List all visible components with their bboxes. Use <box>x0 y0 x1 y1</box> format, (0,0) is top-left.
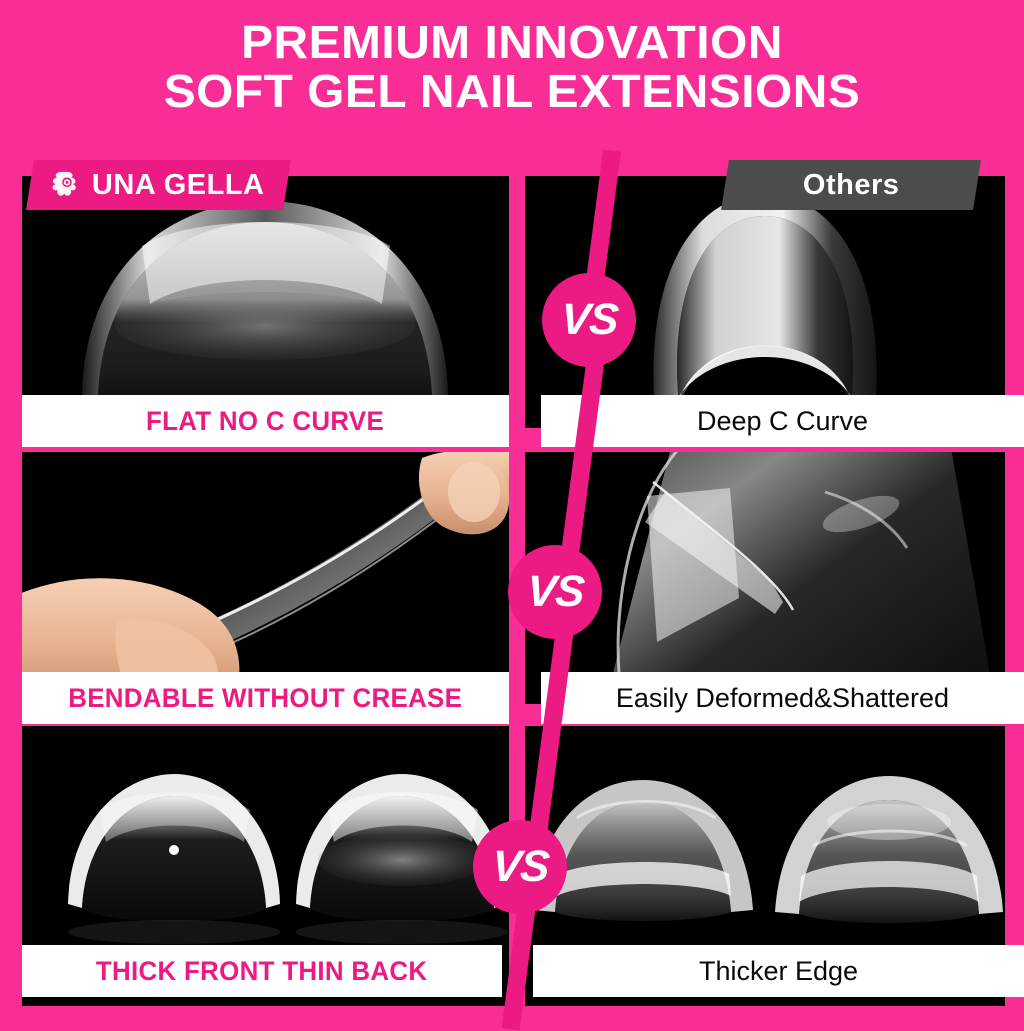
brand-name-label: UNA GELLA <box>92 169 265 202</box>
theirs-caption-row-3: Thicker Edge <box>533 945 1024 997</box>
theirs-caption-row-1: Deep C Curve <box>541 395 1024 447</box>
caption-text: Easily Deformed&Shattered <box>616 683 949 714</box>
others-label: Others <box>803 169 899 202</box>
brand-badge-una-gella: UNA GELLA <box>26 160 291 210</box>
caption-text: BENDABLE WITHOUT CREASE <box>69 683 463 714</box>
bendable-without-crease-image <box>22 452 509 704</box>
vs-label: VS <box>559 295 619 345</box>
ours-image-panel-row-1 <box>22 176 509 428</box>
others-badge: Others <box>721 160 981 210</box>
caption-text: Thicker Edge <box>699 956 858 987</box>
vs-badge-row-2: VS <box>508 545 602 639</box>
vs-badge-row-1: VS <box>542 273 636 367</box>
title-line-2: SOFT GEL NAIL EXTENSIONS <box>0 67 1024 116</box>
caption-text: THICK FRONT THIN BACK <box>96 956 427 987</box>
ours-caption-row-2: BENDABLE WITHOUT CREASE <box>22 672 509 724</box>
ours-caption-row-3: THICK FRONT THIN BACK <box>22 945 502 997</box>
vs-label: VS <box>490 842 550 892</box>
caption-text: Deep C Curve <box>697 406 868 437</box>
ours-caption-row-1: FLAT NO C CURVE <box>22 395 509 447</box>
title-line-1: PREMIUM INNOVATION <box>0 18 1024 67</box>
ours-image-panel-row-2 <box>22 452 509 704</box>
rose-icon <box>52 170 82 200</box>
vs-label: VS <box>525 567 585 617</box>
theirs-caption-row-2: Easily Deformed&Shattered <box>541 672 1024 724</box>
page-title: PREMIUM INNOVATION SOFT GEL NAIL EXTENSI… <box>0 18 1024 116</box>
vs-badge-row-3: VS <box>473 820 567 914</box>
flat-no-c-curve-nail-image <box>22 176 509 428</box>
caption-text: FLAT NO C CURVE <box>146 406 384 437</box>
comparison-row-1 <box>22 176 1005 428</box>
